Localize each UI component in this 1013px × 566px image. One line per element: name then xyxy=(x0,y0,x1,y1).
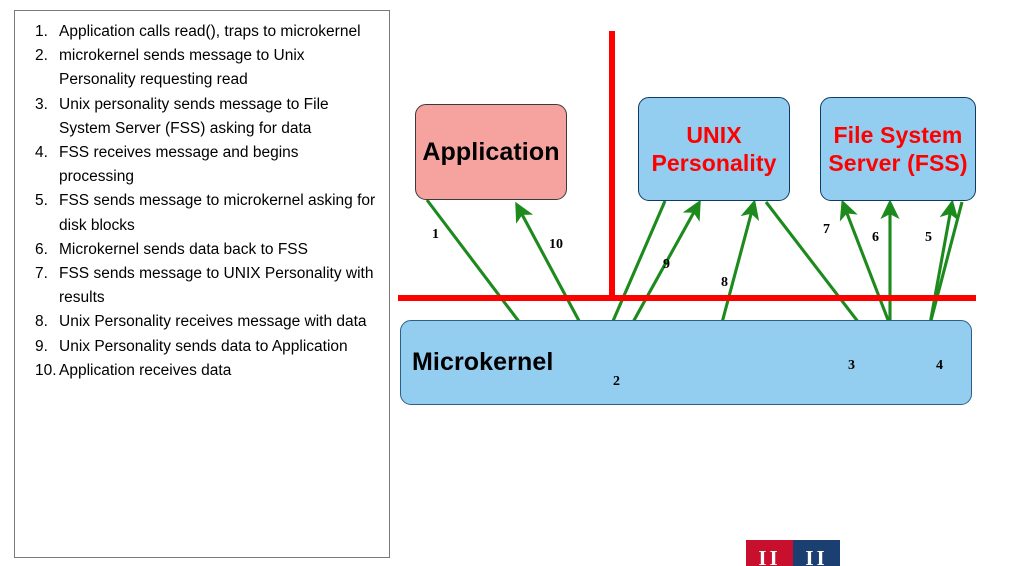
node-microkernel[interactable]: Microkernel xyxy=(400,320,972,405)
logo-left-glyph: II xyxy=(758,548,780,566)
node-unix-personality-label: UNIX Personality xyxy=(651,121,776,177)
node-unix-personality[interactable]: UNIX Personality xyxy=(638,97,790,201)
logo-blue-block: II xyxy=(793,540,840,566)
node-application[interactable]: Application xyxy=(415,104,567,200)
arrow-label-2: 2 xyxy=(613,374,620,390)
logo-red-block: II xyxy=(746,540,793,566)
node-unix-personality-line1: UNIX xyxy=(686,122,741,148)
privilege-boundary-horizontal xyxy=(398,295,976,301)
node-microkernel-label: Microkernel xyxy=(412,348,553,377)
arrow-label-10: 10 xyxy=(549,237,563,253)
arrow-label-1: 1 xyxy=(432,227,439,243)
logo-right-glyph: II xyxy=(805,548,827,566)
node-file-system-server[interactable]: File System Server (FSS) xyxy=(820,97,976,201)
arrow-label-4: 4 xyxy=(936,358,943,374)
node-unix-personality-line2: Personality xyxy=(651,150,776,176)
node-fss-line2: Server (FSS) xyxy=(828,150,967,176)
message-arrows xyxy=(0,0,1013,566)
node-fss-line1: File System xyxy=(834,122,963,148)
corner-logo: II II xyxy=(746,540,840,566)
arrow-label-6: 6 xyxy=(872,230,879,246)
arrow-label-9: 9 xyxy=(663,257,670,273)
slide-canvas: 1. Application calls read(), traps to mi… xyxy=(0,0,1013,566)
arrow-label-3: 3 xyxy=(848,358,855,374)
privilege-boundary-vertical xyxy=(609,31,615,301)
arrow-label-5: 5 xyxy=(925,230,932,246)
node-fss-label: File System Server (FSS) xyxy=(828,121,967,177)
arrow-label-7: 7 xyxy=(823,222,830,238)
arrow-label-8: 8 xyxy=(721,275,728,291)
node-application-label: Application xyxy=(422,138,559,167)
